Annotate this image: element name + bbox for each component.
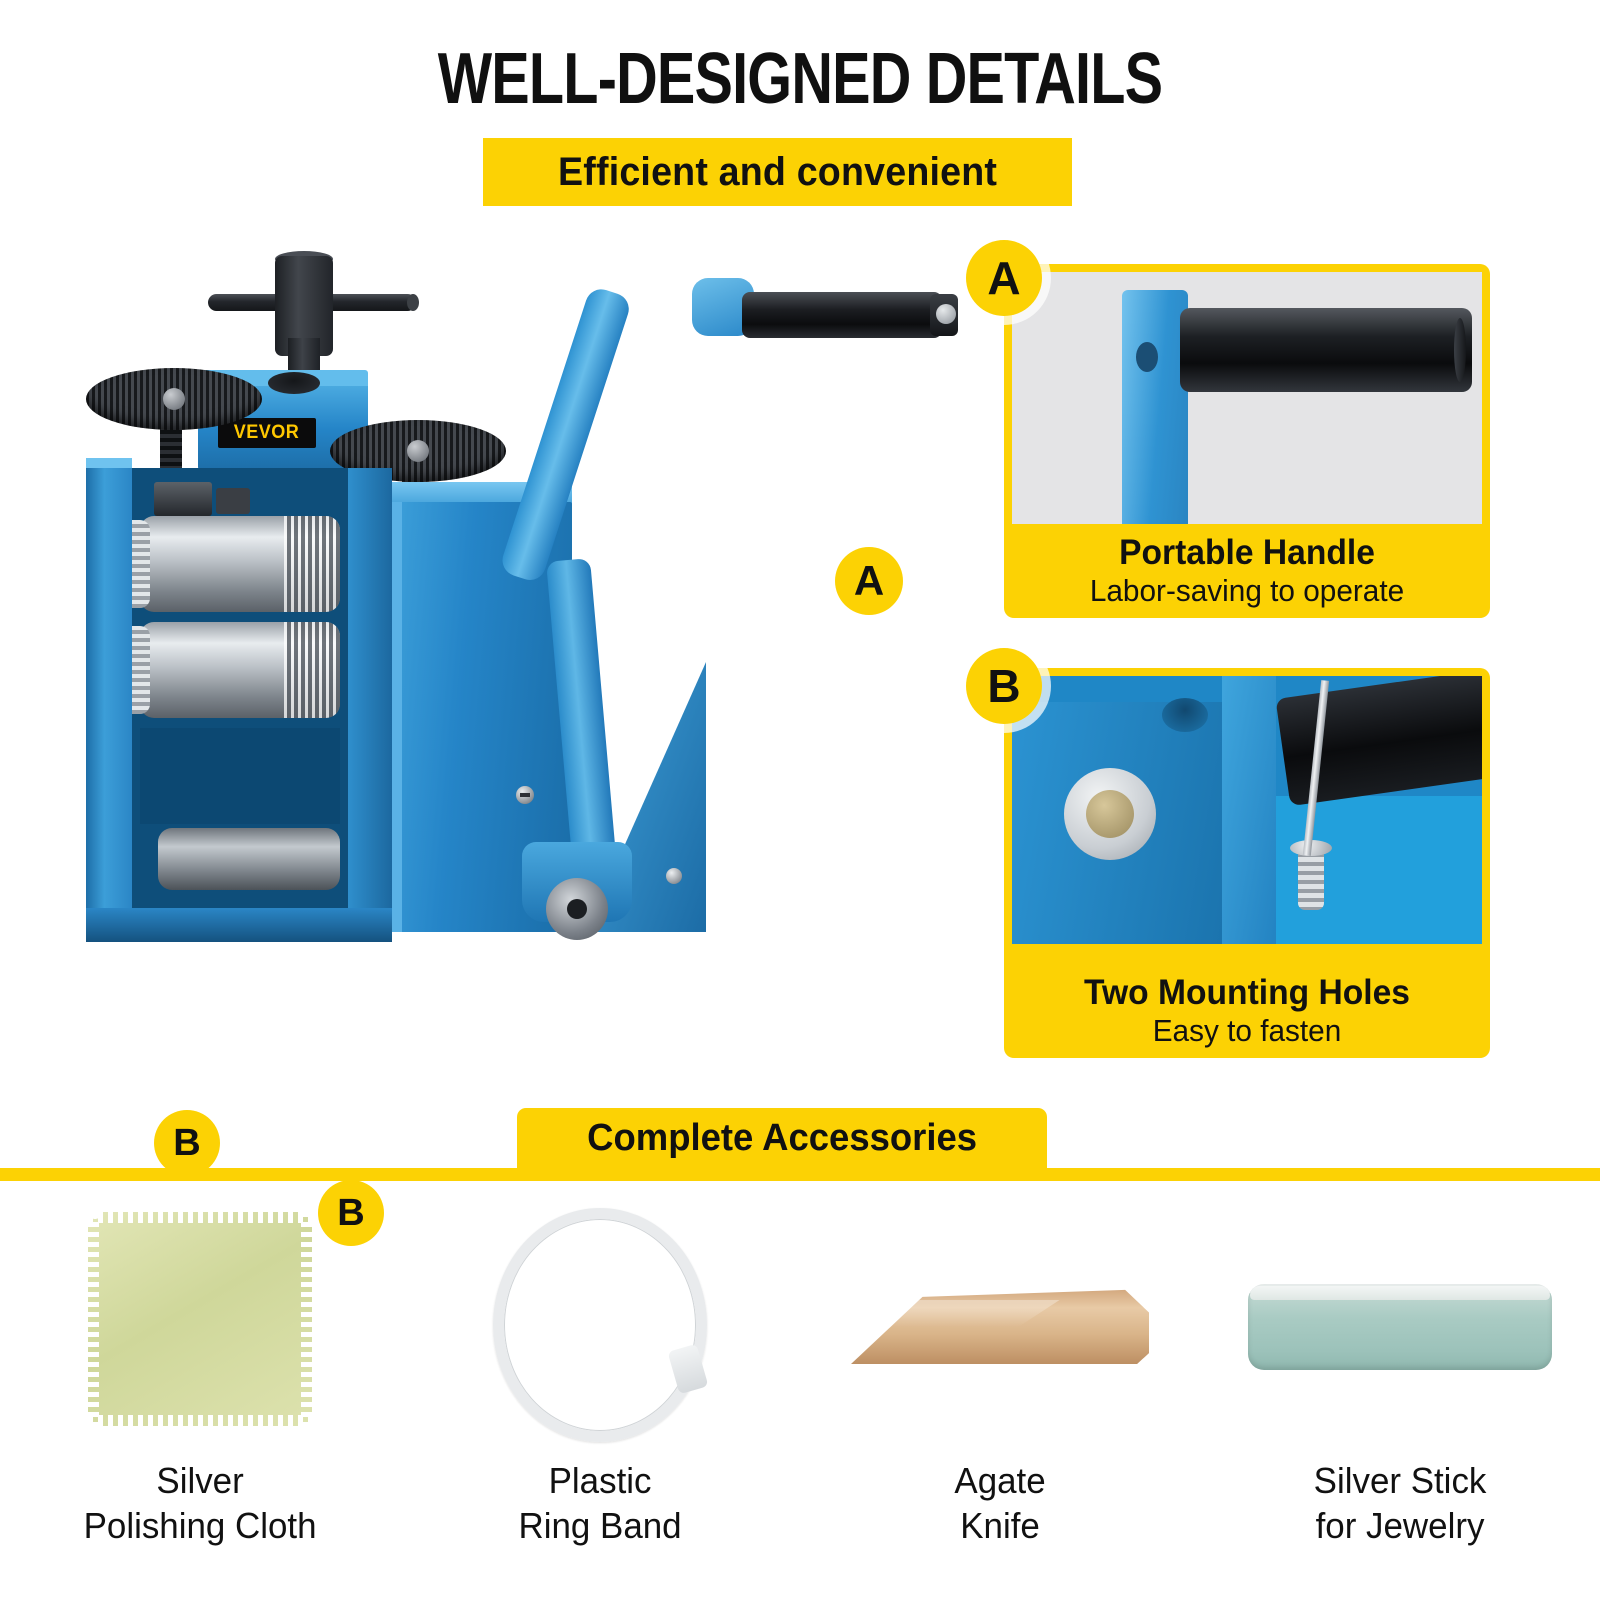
bridge-bore-hole <box>268 372 320 394</box>
gearbox-screw-icon <box>516 786 534 804</box>
bracket-screw-icon <box>666 868 682 884</box>
plastic-ring-band-icon <box>400 1190 800 1458</box>
roller-lower <box>158 828 340 890</box>
mount-washer-screw-icon <box>1064 768 1156 860</box>
accessory-item-polishing-cloth: Silver Polishing Cloth <box>0 1190 400 1590</box>
internal-hardware-pin <box>216 488 250 514</box>
subtitle-banner: Efficient and convenient <box>483 138 1072 206</box>
accessory-label-2: Plastic Ring Band <box>518 1458 681 1549</box>
panel-b-caption: Two Mounting Holes Easy to fasten <box>1004 973 1490 1058</box>
marker-a-badge-panel: A <box>966 240 1042 316</box>
accessory-label-4-line1: Silver Stick <box>1314 1458 1487 1503</box>
handle-arm-icon <box>1122 290 1188 524</box>
frame-right-upright <box>348 468 392 920</box>
accessories-banner: Complete Accessories <box>517 1108 1047 1168</box>
infographic-page: WELL-DESIGNED DETAILS Efficient and conv… <box>0 0 1600 1600</box>
internal-hardware-block <box>154 482 212 516</box>
handle-grip-icon <box>1180 308 1472 392</box>
mounting-hole-icon <box>1162 698 1208 732</box>
accessory-label-3: Agate Knife <box>954 1458 1045 1549</box>
accessory-label-2-line1: Plastic <box>518 1458 681 1503</box>
accessories-grid: Silver Polishing Cloth Plastic Ring Band… <box>0 1190 1600 1590</box>
product-image-rolling-mill: VEVOR A <box>30 230 730 1070</box>
accessories-divider-rule <box>0 1168 1600 1181</box>
roller-middle <box>140 622 340 718</box>
panel-b-title: Two Mounting Holes <box>1014 973 1481 1012</box>
crank-pivot-hub-icon <box>546 878 608 940</box>
silver-stick-icon <box>1200 1190 1600 1458</box>
accessory-label-1: Silver Polishing Cloth <box>84 1458 317 1549</box>
left-adjustment-knob-icon <box>86 368 262 430</box>
accessory-label-4: Silver Stick for Jewelry <box>1314 1458 1487 1549</box>
mount-side-edge <box>1222 676 1276 944</box>
frame-base-plate <box>86 908 392 942</box>
accessory-label-1-line1: Silver <box>84 1458 317 1503</box>
agate-knife-icon <box>800 1190 1200 1458</box>
panel-b-photo <box>1012 676 1482 944</box>
accessory-item-silver-stick: Silver Stick for Jewelry <box>1200 1190 1600 1590</box>
vevor-logo-badge: VEVOR <box>218 418 316 448</box>
crank-grip-handle <box>742 292 942 338</box>
marker-b-on-photo-left: B <box>154 1110 220 1176</box>
accessories-banner-text: Complete Accessories <box>587 1117 977 1160</box>
accessory-item-agate-knife: Agate Knife <box>800 1190 1200 1590</box>
panel-a-photo <box>1012 272 1482 524</box>
crank-grip-bolt-icon <box>936 304 956 324</box>
accessory-label-1-line2: Polishing Cloth <box>84 1503 317 1548</box>
roller-upper <box>140 516 340 612</box>
page-title: WELL-DESIGNED DETAILS <box>160 38 1440 120</box>
panel-a-caption: Portable Handle Labor-saving to operate <box>1004 533 1490 618</box>
wood-screw-icon <box>1298 848 1324 910</box>
accessory-label-4-line2: for Jewelry <box>1314 1503 1487 1548</box>
marker-b-badge-panel: B <box>966 648 1042 724</box>
marker-a-on-photo: A <box>835 547 903 615</box>
panel-b-subtitle: Easy to fasten <box>1014 1013 1481 1048</box>
accessory-label-3-line1: Agate <box>954 1458 1045 1503</box>
accessory-label-2-line2: Ring Band <box>518 1503 681 1548</box>
polishing-cloth-icon <box>0 1190 400 1458</box>
accessory-label-3-line2: Knife <box>954 1503 1045 1548</box>
frame-left-upright <box>86 468 132 920</box>
gearbox-edge <box>392 502 402 932</box>
accessory-item-ring-band: Plastic Ring Band <box>400 1190 800 1590</box>
subtitle-text: Efficient and convenient <box>558 150 997 195</box>
panel-a-title: Portable Handle <box>1014 533 1481 572</box>
vevor-logo-text: VEVOR <box>234 422 300 444</box>
roller-gap <box>140 728 340 824</box>
callout-panel-portable-handle: Portable Handle Labor-saving to operate <box>1004 264 1490 618</box>
callout-panel-mounting-holes: Two Mounting Holes Easy to fasten <box>1004 668 1490 1058</box>
panel-a-subtitle: Labor-saving to operate <box>1014 573 1481 608</box>
